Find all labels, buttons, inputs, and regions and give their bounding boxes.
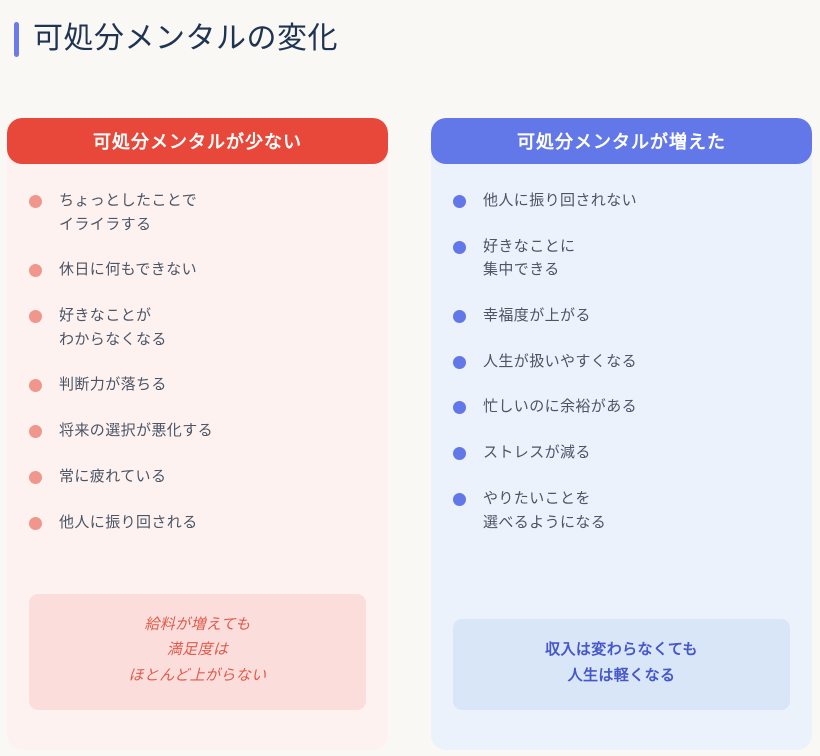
card-positive-note: 収入は変わらなくても 人生は軽くなる [453,619,790,710]
bullet-dot-icon [29,471,42,484]
comparison-columns: 可処分メンタルが少ない ちょっとしたことで イライラする 休日に何もできない 好… [7,118,813,750]
list-item: ストレスが減る [431,442,812,466]
card-positive: 可処分メンタルが増えた 他人に振り回されない 好きなことに 集中できる 幸福度が… [431,118,812,750]
list-item: 他人に振り回される [7,512,388,536]
bullet-dot-icon [29,379,42,392]
list-item: 好きなことが わからなくなる [7,305,388,352]
bullet-dot-icon [29,310,42,323]
bullet-dot-icon [453,310,466,323]
list-item: 将来の選択が悪化する [7,420,388,444]
page-header: 可処分メンタルの変化 [0,0,820,78]
list-item: 休日に何もできない [7,259,388,283]
card-negative-list: ちょっとしたことで イライラする 休日に何もできない 好きなことが わからなくな… [7,164,388,594]
bullet-dot-icon [453,401,466,414]
bullet-dot-icon [29,517,42,530]
list-item-label: ちょっとしたことで イライラする [59,190,197,237]
list-item-label: 将来の選択が悪化する [59,420,213,444]
bullet-dot-icon [453,356,466,369]
list-item-label: やりたいことを 選べるようになる [483,488,606,535]
list-item-label: ストレスが減る [483,442,591,466]
list-item-label: 休日に何もできない [59,259,197,283]
card-negative: 可処分メンタルが少ない ちょっとしたことで イライラする 休日に何もできない 好… [7,118,388,750]
card-positive-list: 他人に振り回されない 好きなことに 集中できる 幸福度が上がる 人生が扱いやすく… [431,164,812,619]
list-item-label: 好きなことに 集中できる [483,236,575,283]
list-item: 常に疲れている [7,466,388,490]
infographic-page: 可処分メンタルの変化 可処分メンタルが少ない ちょっとしたことで イライラする … [0,0,820,756]
list-item: やりたいことを 選べるようになる [431,488,812,535]
list-item: ちょっとしたことで イライラする [7,190,388,237]
list-item: 好きなことに 集中できる [431,236,812,283]
list-item-label: 他人に振り回される [59,512,198,536]
list-item: 幸福度が上がる [431,305,812,329]
list-item-label: 常に疲れている [59,466,166,490]
list-item-label: 好きなことが わからなくなる [59,305,167,352]
list-item-label: 人生が扱いやすくなる [483,351,637,375]
bullet-dot-icon [453,493,466,506]
list-item-label: 判断力が落ちる [59,374,167,398]
list-item: 判断力が落ちる [7,374,388,398]
bullet-dot-icon [29,195,42,208]
bullet-dot-icon [29,264,42,277]
list-item-label: 他人に振り回されない [483,190,637,214]
card-negative-header: 可処分メンタルが少ない [7,118,388,164]
list-item: 人生が扱いやすくなる [431,351,812,375]
list-item-label: 忙しいのに余裕がある [483,396,637,420]
bullet-dot-icon [29,425,42,438]
title-accent-bar [14,22,19,57]
card-positive-header: 可処分メンタルが増えた [431,118,812,164]
list-item-label: 幸福度が上がる [483,305,591,329]
list-item: 他人に振り回されない [431,190,812,214]
bullet-dot-icon [453,195,466,208]
bullet-dot-icon [453,447,466,460]
page-title: 可処分メンタルの変化 [33,21,338,56]
card-negative-note: 給料が増えても 満足度は ほとんど上がらない [29,594,366,710]
list-item: 忙しいのに余裕がある [431,396,812,420]
bullet-dot-icon [453,241,466,254]
